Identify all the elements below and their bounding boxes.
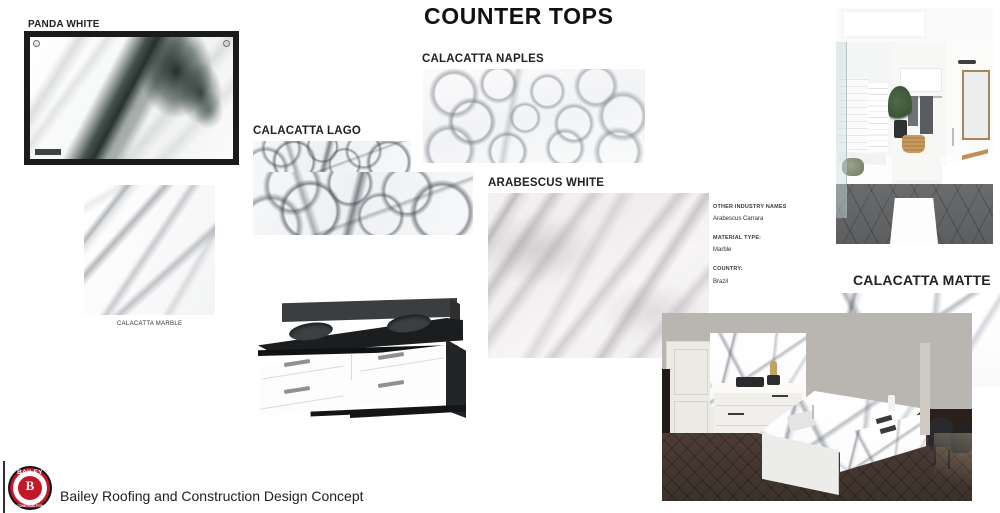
swatch-label-calacatta-naples: CALACATTA NAPLES: [422, 53, 544, 65]
swatch-label-arabescus-white: ARABESCUS WHITE: [488, 177, 604, 189]
bathroom-photo[interactable]: [836, 8, 993, 244]
corner-mark-icon: [33, 40, 40, 47]
kitchen-island-bottle: [888, 395, 895, 411]
caption-calacatta-marble: CALACATTA MARBLE: [117, 321, 182, 327]
bathroom-towel-dark: [920, 96, 933, 134]
vanity-illustration: [250, 292, 480, 428]
bathroom-faucet: [952, 128, 954, 146]
marble-texture-panda: [30, 37, 233, 159]
swatch-label-calacatta-lago: CALACATTA LAGO: [253, 125, 361, 137]
kitchen-island-faucet: [812, 405, 814, 419]
bailey-logo: BAILEY B ROOFING & CONSTRUCTION: [8, 466, 52, 510]
moodboard-canvas: COUNTER TOPS PANDA WHITE CALACATTA MARBL…: [0, 0, 1000, 513]
kitchen-pillar: [920, 343, 930, 435]
kitchen-cooktop: [736, 377, 764, 387]
logo-wordmark-bottom: ROOFING & CONSTRUCTION: [8, 500, 52, 508]
kitchen-drawer-seam-1: [716, 405, 800, 406]
bathroom-plant: [888, 86, 912, 124]
kitchen-drawer-handle-1: [728, 413, 744, 415]
spec-country-value: Brazil: [713, 279, 728, 285]
bathroom-basket: [902, 135, 925, 153]
spec-country-key: COUNTRY:: [713, 266, 743, 272]
swatch-calacatta-marble[interactable]: [84, 185, 215, 315]
vanity-seam-vertical: [351, 354, 352, 380]
kitchen-pot: [767, 375, 780, 385]
footer-title: Bailey Roofing and Construction Design C…: [60, 488, 364, 504]
vanity-backsplash: [282, 298, 457, 322]
swatch-calacatta-naples[interactable]: [423, 69, 645, 163]
spec-block: OTHER INDUSTRY NAMES Arabescus Carrara M…: [713, 200, 813, 292]
bathroom-mirror: [962, 70, 990, 140]
swatch-calacatta-lago-top[interactable]: [253, 141, 411, 174]
logo-monogram: B: [8, 479, 52, 492]
bathroom-shower-glass: [836, 42, 847, 218]
spec-other-names-value: Arabescus Carrara: [713, 216, 763, 222]
bathroom-skylight: [844, 12, 924, 36]
bathroom-bath-mat: [890, 198, 938, 244]
bathroom-subway-tile: [866, 82, 888, 152]
logo-wordmark-top: BAILEY: [8, 469, 52, 476]
swatch-label-calacatta-matte: CALACATTA MATTE: [853, 272, 991, 288]
swatch-label-panda-white: PANDA WHITE: [28, 19, 100, 30]
spec-material-type-value: Marble: [713, 247, 731, 253]
panda-white-texture: [30, 37, 233, 159]
kitchen-drawer-handle-2: [772, 395, 788, 397]
spec-other-names-key: OTHER INDUSTRY NAMES: [713, 204, 787, 210]
kitchen-cabinet-panel: [674, 349, 708, 395]
swatch-panda-white[interactable]: [24, 31, 239, 165]
kitchen-light-wash: [934, 433, 972, 501]
bathroom-sconce: [958, 60, 976, 64]
slab-tag: [35, 149, 61, 155]
page-title: COUNTER TOPS: [424, 3, 614, 30]
spec-material-type-key: MATERIAL TYPE:: [713, 235, 761, 241]
kitchen-photo[interactable]: [662, 313, 972, 501]
swatch-calacatta-lago[interactable]: [253, 172, 473, 235]
footer-divider: [3, 461, 5, 513]
corner-mark-icon: [223, 40, 230, 47]
